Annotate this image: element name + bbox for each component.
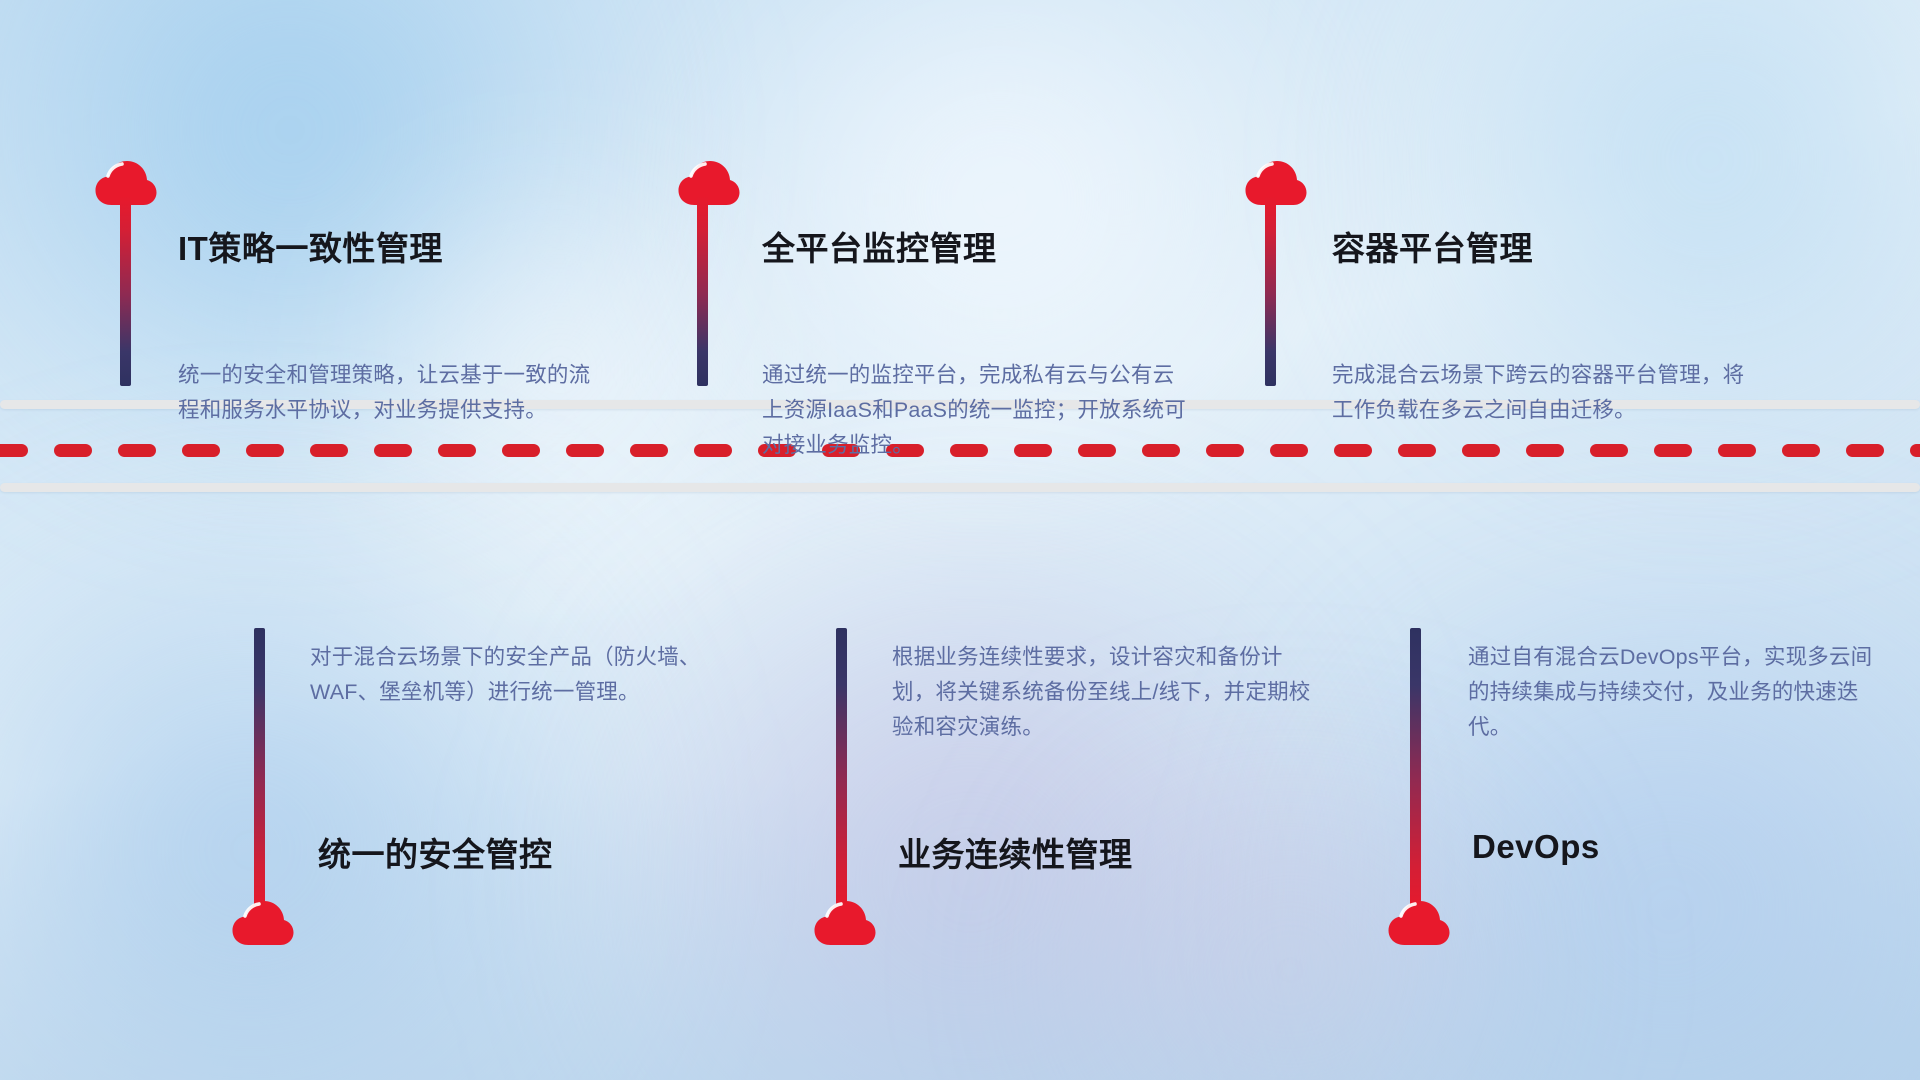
dash-segment	[374, 444, 412, 457]
dash-segment	[1462, 444, 1500, 457]
dash-segment	[438, 444, 476, 457]
dash-segment	[1398, 444, 1436, 457]
dash-segment	[1910, 444, 1920, 457]
dash-segment	[630, 444, 668, 457]
feature-title: IT策略一致性管理	[178, 222, 443, 270]
cloud-icon	[814, 900, 876, 946]
cloud-icon	[232, 900, 294, 946]
infographic-canvas: IT策略一致性管理 统一的安全和管理策略，让云基于一致的流程和服务水平协议，对业…	[0, 0, 1920, 1080]
connector-line	[1265, 196, 1276, 386]
feature-description: 通过统一的监控平台，完成私有云与公有云上资源IaaS和PaaS的统一监控；开放系…	[762, 358, 1194, 463]
feature-title: DevOps	[1472, 828, 1600, 866]
dash-segment	[182, 444, 220, 457]
connector-line	[697, 196, 708, 386]
feature-description: 通过自有混合云DevOps平台，实现多云间的持续集成与持续交付，及业务的快速迭代…	[1468, 640, 1888, 745]
gray-rule-bottom	[0, 483, 1920, 492]
feature-description-text: 完成混合云场景下跨云的容器平台管理，将工作负载在多云之间自由迁移。	[1332, 358, 1752, 428]
dash-segment	[502, 444, 540, 457]
dash-segment	[246, 444, 284, 457]
feature-description: 对于混合云场景下的安全产品（防火墙、WAF、堡垒机等）进行统一管理。	[310, 640, 730, 710]
feature-title: 统一的安全管控	[318, 828, 553, 876]
dash-segment	[1654, 444, 1692, 457]
dash-segment	[1718, 444, 1756, 457]
cloud-icon	[678, 160, 740, 206]
feature-description-text: 通过统一的监控平台，完成私有云与公有云上资源IaaS和PaaS的统一监控；开放系…	[762, 358, 1194, 463]
dash-segment	[0, 444, 28, 457]
feature-description-text: 根据业务连续性要求，设计容灾和备份计划，将关键系统备份至线上/线下，并定期校验和…	[892, 640, 1312, 745]
dash-segment	[310, 444, 348, 457]
connector-line	[120, 196, 131, 386]
dash-segment	[54, 444, 92, 457]
dash-segment	[1782, 444, 1820, 457]
connector-line	[1410, 628, 1421, 913]
dash-segment	[118, 444, 156, 457]
feature-description-text: 统一的安全和管理策略，让云基于一致的流程和服务水平协议，对业务提供支持。	[178, 358, 598, 428]
dash-segment	[1846, 444, 1884, 457]
feature-description: 统一的安全和管理策略，让云基于一致的流程和服务水平协议，对业务提供支持。	[178, 358, 598, 428]
connector-line	[836, 628, 847, 913]
dash-segment	[566, 444, 604, 457]
dash-segment	[1270, 444, 1308, 457]
dash-segment	[1526, 444, 1564, 457]
dash-segment	[694, 444, 732, 457]
feature-description-text: 通过自有混合云DevOps平台，实现多云间的持续集成与持续交付，及业务的快速迭代…	[1468, 640, 1888, 745]
dash-segment	[1206, 444, 1244, 457]
feature-description-text: 对于混合云场景下的安全产品（防火墙、WAF、堡垒机等）进行统一管理。	[310, 640, 730, 710]
feature-title: 全平台监控管理	[762, 222, 997, 270]
cloud-icon	[1245, 160, 1307, 206]
connector-line	[254, 628, 265, 913]
dash-segment	[1334, 444, 1372, 457]
cloud-icon	[1388, 900, 1450, 946]
feature-title: 容器平台管理	[1332, 222, 1533, 270]
feature-description: 根据业务连续性要求，设计容灾和备份计划，将关键系统备份至线上/线下，并定期校验和…	[892, 640, 1312, 745]
feature-description: 完成混合云场景下跨云的容器平台管理，将工作负载在多云之间自由迁移。	[1332, 358, 1752, 428]
dash-segment	[1590, 444, 1628, 457]
feature-title: 业务连续性管理	[898, 828, 1133, 876]
